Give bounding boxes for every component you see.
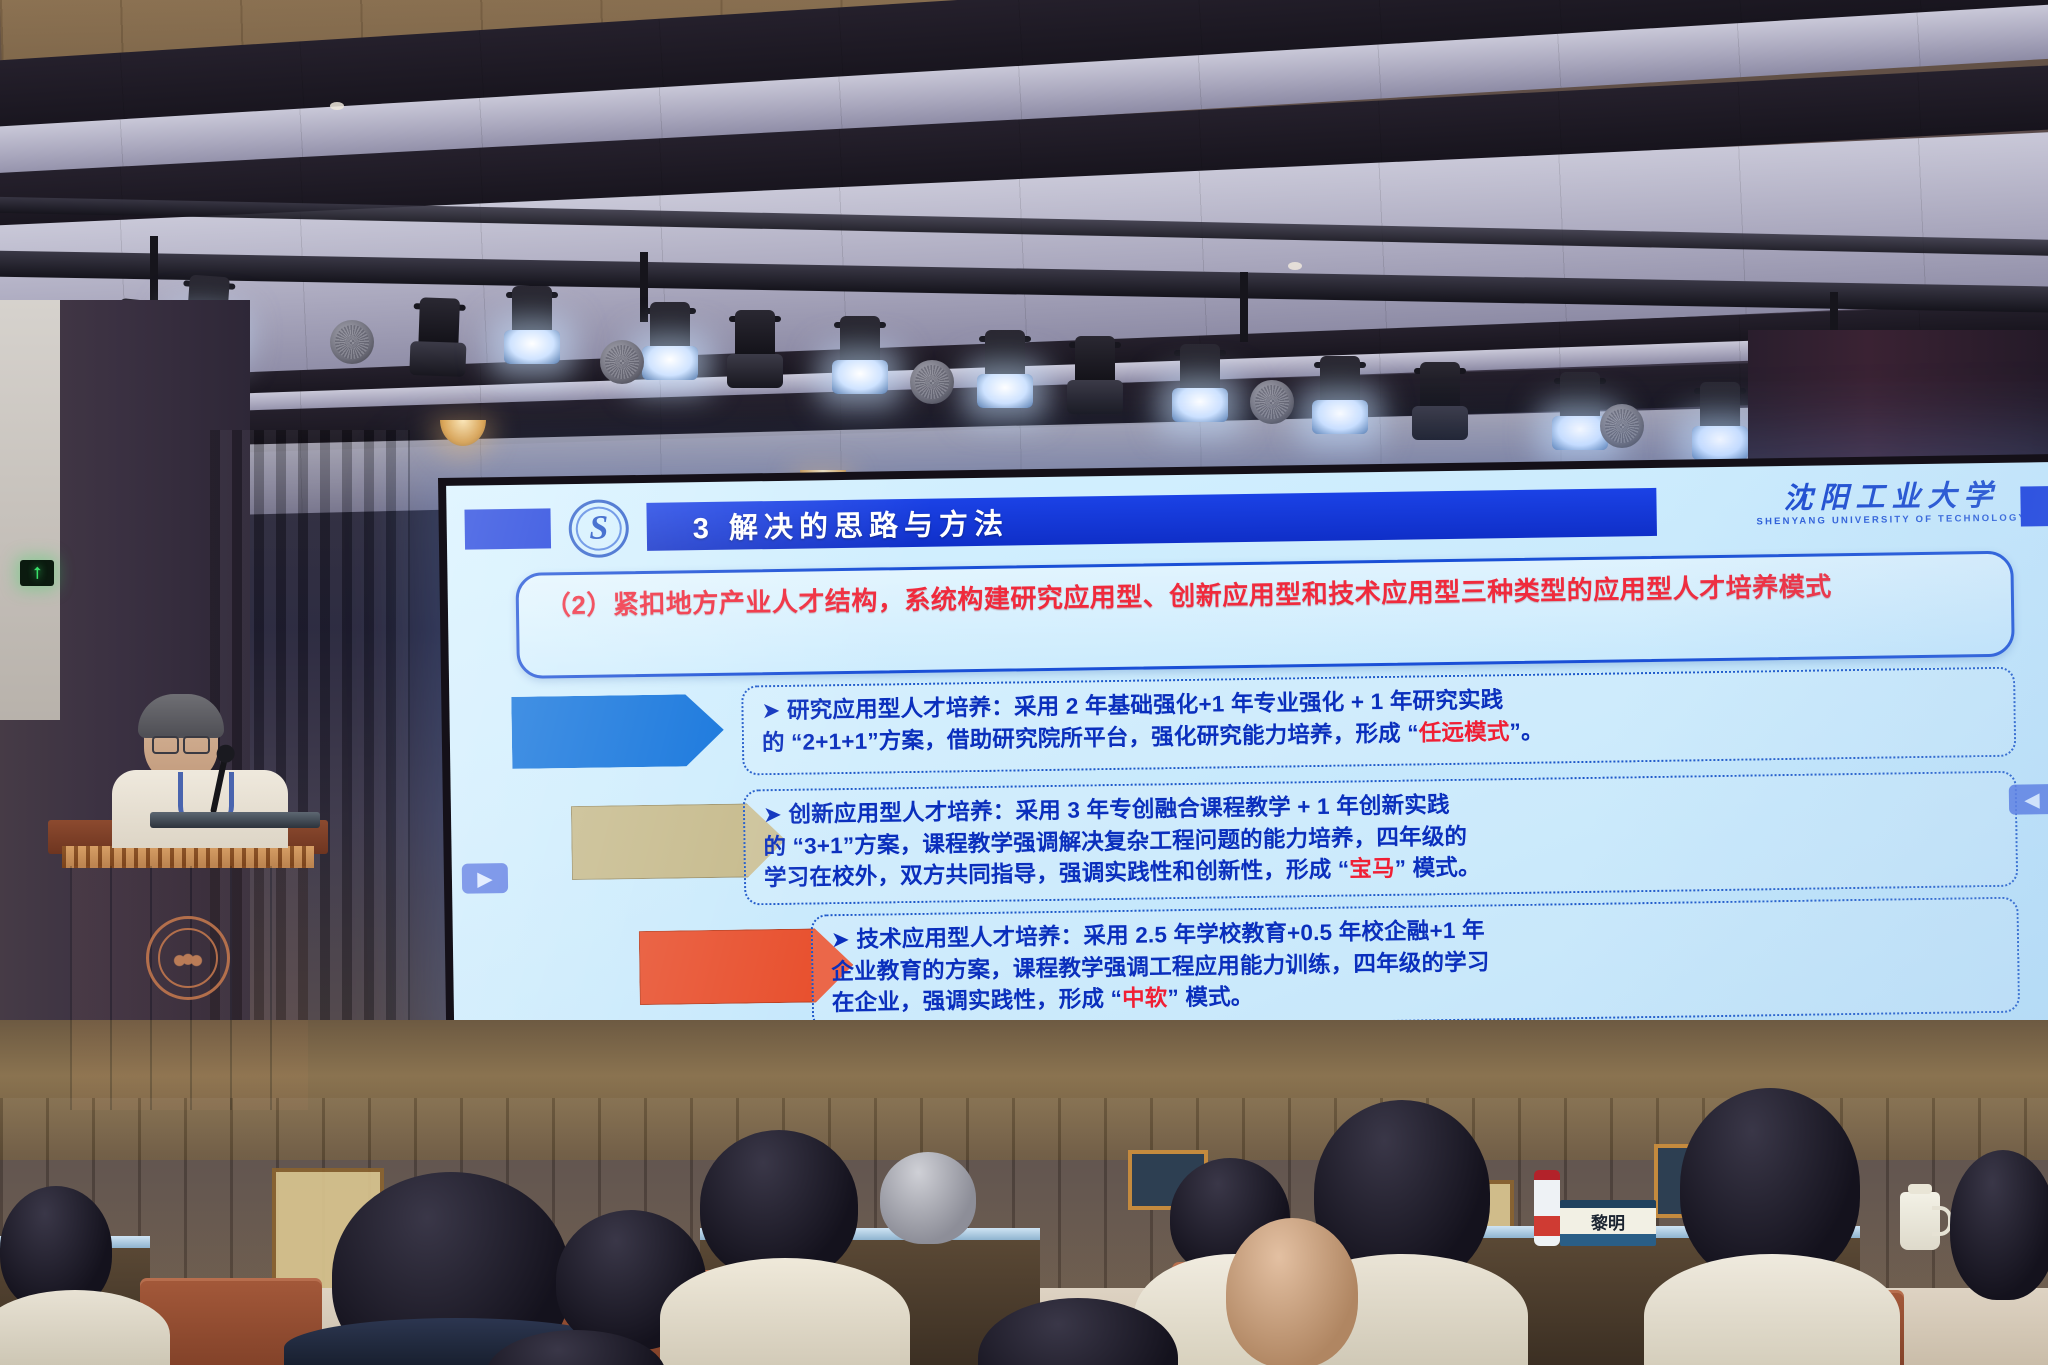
bullet-line-1b: 的 “2+1+1”方案，借助研究院所平台，强化研究能力培养，形成 “ [762, 720, 1419, 755]
slide-header: S 3 解决的思路与方法 沈阳工业大学 SHENYANG UNIVERSITY … [446, 478, 2048, 560]
bullet-marker-1: ➤ [761, 698, 780, 723]
slide-nav-prev-glyph: ◀ [2024, 787, 2040, 812]
stage-light-8 [985, 330, 1025, 388]
pa-speaker-5 [1600, 404, 1644, 448]
bullet-line-2c: 学习在校外，双方共同指导，强调实践性和创新性，形成 “ [764, 857, 1350, 891]
pa-speaker-1 [330, 320, 374, 364]
ceiling-marker-1 [330, 102, 344, 110]
slide-nav-prev-button[interactable]: ◀ [2009, 784, 2048, 815]
bullet-line-2d: ” 模式。 [1395, 855, 1481, 881]
arrow-shape-research [511, 694, 724, 769]
exit-sign-icon: ⭡ [20, 560, 54, 586]
truss-hanger-3 [1240, 272, 1248, 342]
header-accent-block-right [2020, 486, 2048, 527]
presenter-glasses-icon [152, 736, 210, 750]
audience-head-4 [880, 1152, 976, 1244]
bullet-highlight-2: 宝马 [1349, 856, 1395, 882]
pa-speaker-4 [1250, 380, 1294, 424]
tea-mug [1900, 1192, 1940, 1250]
stage-light-6 [735, 310, 775, 368]
stage-light-10 [1180, 344, 1220, 402]
bullet-highlight-3: 中软 [1122, 985, 1168, 1011]
audience-nameplate: 黎明 [1560, 1200, 1656, 1246]
presenter-person [118, 700, 268, 830]
header-accent-block-left [464, 508, 551, 549]
ceiling-marker-2 [1288, 262, 1302, 270]
audience-head-9 [1950, 1150, 2048, 1300]
university-seal-icon: S [568, 499, 629, 558]
bullet-box-technical: ➤ 技术应用型人才培养：采用 2.5 年学校教育+0.5 年校企融+1 年 企业… [811, 897, 2021, 1031]
audience-head-7 [1226, 1218, 1358, 1365]
auditorium-photo: ⭡ S 3 解决的思路与方法 沈阳工业大学 SHENYANG UNIVERSIT… [0, 0, 2048, 1365]
exit-sign-glyph: ⭡ [33, 565, 41, 582]
slide-nav-next-glyph: ▶ [477, 866, 493, 891]
bullet-line-1c: ”。 [1509, 718, 1544, 744]
university-name-en: SHENYANG UNIVERSITY OF TECHNOLOGY [1747, 513, 2037, 528]
stage-light-3 [418, 297, 460, 356]
bullet-line-2b: 的 “3+1”方案，课程教学强调解决复杂工程问题的能力培养，四年级的 [763, 823, 1467, 858]
slide-nav-next-button[interactable]: ▶ [462, 863, 508, 894]
slide-title: 3 解决的思路与方法 [646, 501, 1009, 548]
pa-speaker-2 [600, 340, 644, 384]
seal-letter: S [568, 499, 629, 558]
bullet-line-3a: 技术应用型人才培养：采用 2.5 年学校教育+0.5 年校企融+1 年 [856, 918, 1485, 952]
university-brand: 沈阳工业大学 SHENYANG UNIVERSITY OF TECHNOLOGY [1746, 480, 2037, 528]
bullet-highlight-1: 任远模式 [1419, 719, 1510, 745]
podium-university-emblem-icon [146, 916, 230, 1000]
water-bottle [1534, 1170, 1560, 1246]
podium-laptop [150, 812, 320, 828]
presentation-slide: S 3 解决的思路与方法 沈阳工业大学 SHENYANG UNIVERSITY … [446, 462, 2048, 1046]
slide-callout-text: （2）紧扣地方产业人才结构，系统构建研究应用型、创新应用型和技术应用型三种类型的… [545, 566, 1989, 624]
stage-light-11 [1320, 356, 1360, 414]
truss-hanger-1 [150, 236, 158, 306]
slide-title-bar: 3 解决的思路与方法 [646, 488, 1657, 551]
bullet-line-2a: 创新应用型人才培养：采用 3 年专创融合课程教学 + 1 年创新实践 [788, 792, 1450, 827]
stage-light-5 [650, 302, 690, 360]
stage-light-12 [1420, 362, 1460, 420]
stage-light-13 [1560, 372, 1600, 430]
projection-screen-frame: S 3 解决的思路与方法 沈阳工业大学 SHENYANG UNIVERSITY … [438, 454, 2048, 1056]
stage-light-14 [1700, 382, 1740, 440]
stage-light-9 [1075, 336, 1115, 394]
university-name-cn: 沈阳工业大学 [1746, 480, 2036, 515]
bullet-marker-3: ➤ [831, 927, 850, 952]
bullet-line-3b: 企业教育的方案，课程教学强调工程应用能力训练，四年级的学习 [831, 949, 1490, 984]
audience-area: 黎明 [0, 1040, 2048, 1365]
bullet-marker-2: ➤ [763, 802, 782, 827]
stage-light-4 [512, 286, 552, 344]
bullet-line-1a: 研究应用型人才培养：采用 2 年基础强化+1 年专业强化 + 1 年研究实践 [787, 687, 1504, 723]
audience-nameplate-text: 黎明 [1591, 1209, 1625, 1234]
bullet-box-innovation: ➤ 创新应用型人才培养：采用 3 年专创融合课程教学 + 1 年创新实践 的 “… [743, 771, 2019, 906]
bullet-box-research: ➤ 研究应用型人才培养：采用 2 年基础强化+1 年专业强化 + 1 年研究实践… [741, 667, 2016, 776]
audience-shoulder-8 [1644, 1254, 1900, 1365]
bullet-line-3d: ” 模式。 [1167, 984, 1253, 1010]
slide-callout-box: （2）紧扣地方产业人才结构，系统构建研究应用型、创新应用型和技术应用型三种类型的… [515, 551, 2014, 679]
pa-speaker-3 [910, 360, 954, 404]
stage-light-7 [840, 316, 880, 374]
bullet-line-3c: 在企业，强调实践性，形成 “ [832, 986, 1123, 1015]
wall-left-lit-panel [0, 300, 60, 720]
